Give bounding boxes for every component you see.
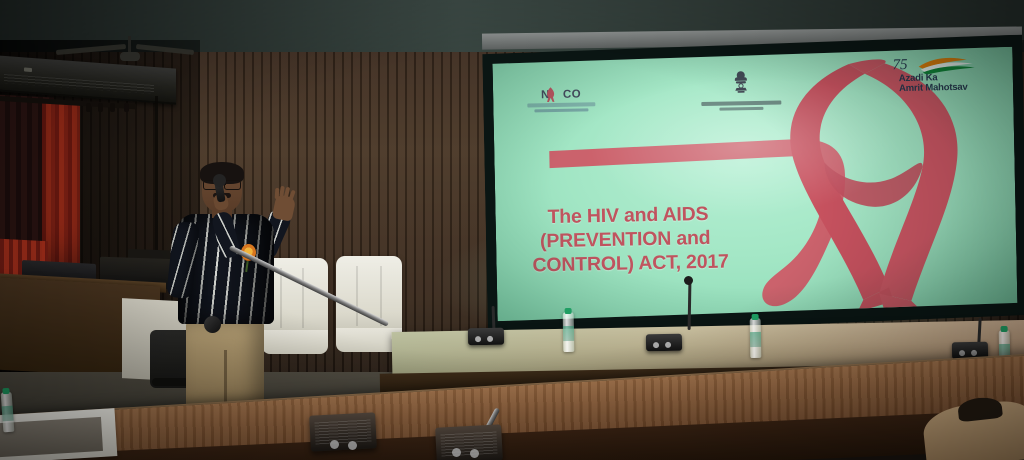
mic-knob[interactable] [487, 336, 493, 342]
mic-knob[interactable] [475, 336, 481, 342]
ac-indicator-light [24, 67, 32, 72]
spectacle-lens [224, 180, 241, 190]
white-covered-chair [336, 256, 402, 336]
presenter [168, 160, 308, 410]
mic-knob[interactable] [330, 440, 339, 449]
curtain-hook [98, 103, 103, 112]
bottle-cap [1001, 326, 1008, 332]
bottle-cap [2, 388, 9, 394]
conference-photo-scene: NCO [0, 0, 1024, 460]
mic-base-grill [440, 432, 497, 457]
bottle-cap [752, 314, 759, 320]
white-tray-inner [0, 417, 103, 457]
mic-base-grill [314, 420, 371, 445]
curtain-hook [86, 103, 91, 112]
curtain-hook [124, 103, 129, 112]
handheld-microphone-head[interactable] [213, 174, 226, 187]
chair-cover-fold [356, 266, 358, 326]
gooseneck-mic-head [204, 316, 221, 333]
projected-slide: NCO [492, 47, 1017, 321]
curtain-hook [110, 103, 115, 112]
ceiling-fan-motor [120, 52, 140, 61]
table-microphone-head [684, 276, 693, 285]
water-bottle[interactable] [563, 312, 575, 352]
mic-knob[interactable] [959, 350, 965, 356]
bottle-cap [565, 308, 572, 314]
mic-knob[interactable] [348, 441, 357, 450]
white-tray [0, 408, 117, 460]
ac-vent-louvers [4, 74, 154, 94]
projection-screen-assembly: NCO [482, 35, 1024, 338]
mic-knob[interactable] [470, 449, 479, 458]
bottle-label [2, 406, 14, 422]
mic-knob[interactable] [452, 448, 461, 457]
water-bottle[interactable] [750, 318, 762, 358]
gooseneck-mic-base[interactable] [435, 424, 503, 460]
mic-knob[interactable] [665, 342, 671, 348]
gooseneck-mic-base[interactable] [309, 412, 377, 451]
mic-knob[interactable] [653, 342, 659, 348]
bottle-label [750, 332, 761, 347]
screen-vignette [492, 47, 1017, 321]
table-microphone-base[interactable] [646, 334, 682, 352]
mic-knob[interactable] [971, 350, 977, 356]
presenter-finger [288, 190, 296, 202]
bottle-label [563, 326, 574, 341]
table-microphone-base[interactable] [468, 328, 504, 346]
